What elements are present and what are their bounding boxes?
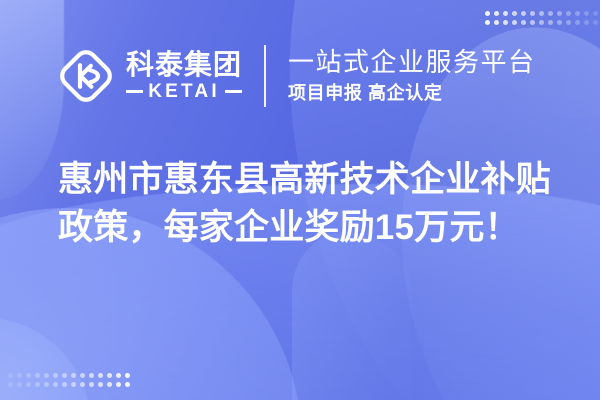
decorative-dot [44, 373, 49, 378]
decorative-dot [26, 382, 31, 387]
brand-name-cn: 科泰集团 [126, 51, 242, 80]
decorative-dot [530, 20, 535, 25]
decorative-dot [503, 11, 508, 16]
decorative-dot [548, 20, 553, 25]
decorative-dot [521, 20, 526, 25]
decorative-dot [548, 11, 553, 16]
decorative-dot [26, 373, 31, 378]
decorative-dot [98, 373, 103, 378]
brand-rule-left [126, 90, 143, 93]
dot-grid-bottom-left [8, 373, 130, 387]
dot-grid-top-right [485, 11, 600, 25]
decorative-dot [584, 20, 589, 25]
brand-name-en: KETAI [148, 82, 220, 101]
header-divider [264, 45, 266, 107]
decorative-dot [35, 382, 40, 387]
decorative-dot [566, 11, 571, 16]
decorative-dot [44, 382, 49, 387]
decorative-dot [125, 382, 130, 387]
vertical-band-shape [292, 232, 412, 400]
decorative-dot [107, 373, 112, 378]
decorative-dot [575, 20, 580, 25]
tagline-block: 一站式企业服务平台 项目申报 高企认定 [288, 47, 536, 105]
decorative-dot [557, 20, 562, 25]
decorative-dot [530, 11, 535, 16]
decorative-dot [593, 20, 598, 25]
decorative-dot [485, 11, 490, 16]
decorative-dot [80, 382, 85, 387]
ketai-diamond-monogram-icon [56, 46, 116, 106]
decorative-dot [116, 382, 121, 387]
decorative-dot [53, 373, 58, 378]
headline-line-1: 惠州市惠东县高新技术企业补贴 [58, 156, 558, 204]
decorative-dot [521, 11, 526, 16]
promo-banner: 科泰集团 KETAI 一站式企业服务平台 项目申报 高企认定 惠州市惠东县高新技… [0, 0, 600, 400]
decorative-dot [62, 382, 67, 387]
decorative-dot [8, 373, 13, 378]
decorative-dot [566, 20, 571, 25]
decorative-dot [17, 373, 22, 378]
decorative-dot [512, 20, 517, 25]
tagline-secondary: 项目申报 高企认定 [288, 82, 536, 105]
decorative-dot [107, 382, 112, 387]
headline-block: 惠州市惠东县高新技术企业补贴 政策，每家企业奖励15万元！ [58, 156, 558, 252]
brand-wordmark: 科泰集团 KETAI [126, 51, 242, 101]
decorative-dot [485, 20, 490, 25]
headline-line-2: 政策，每家企业奖励15万元！ [58, 204, 558, 252]
decorative-dot [539, 20, 544, 25]
brand-name-en-row: KETAI [126, 82, 242, 101]
decorative-dot [593, 11, 598, 16]
decorative-dot [8, 382, 13, 387]
decorative-dot [71, 373, 76, 378]
decorative-dot [125, 373, 130, 378]
decorative-dot [503, 20, 508, 25]
banner-header: 科泰集团 KETAI 一站式企业服务平台 项目申报 高企认定 [0, 38, 600, 114]
decorative-dot [557, 11, 562, 16]
decorative-dot [494, 20, 499, 25]
decorative-dot [584, 11, 589, 16]
decorative-dot [71, 382, 76, 387]
decorative-dot [62, 373, 67, 378]
decorative-dot [539, 11, 544, 16]
decorative-dot [512, 11, 517, 16]
decorative-dot [98, 382, 103, 387]
tagline-primary: 一站式企业服务平台 [288, 47, 536, 78]
decorative-dot [89, 373, 94, 378]
decorative-dot [35, 373, 40, 378]
decorative-dot [494, 11, 499, 16]
decorative-dot [53, 382, 58, 387]
decorative-dot [17, 382, 22, 387]
decorative-dot [89, 382, 94, 387]
decorative-dot [80, 373, 85, 378]
brand-rule-right [225, 90, 242, 93]
decorative-dot [575, 11, 580, 16]
circle-shape-bottom-left-inner [0, 318, 90, 400]
decorative-dot [116, 373, 121, 378]
brand-lockup: 科泰集团 KETAI [56, 46, 242, 106]
